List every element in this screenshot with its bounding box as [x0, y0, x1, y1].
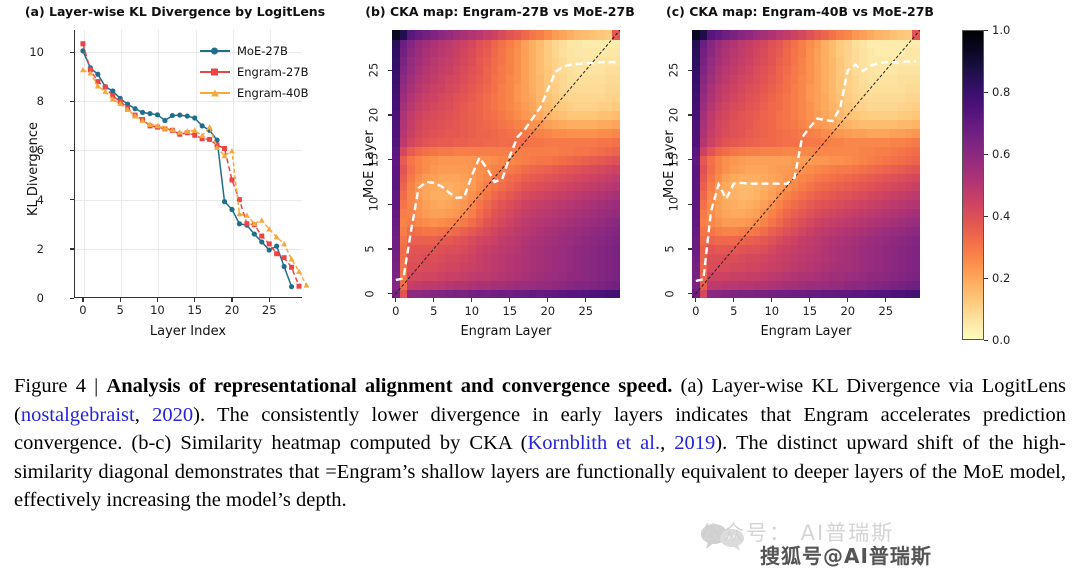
- heatmap-cell: [612, 110, 620, 120]
- legend-swatch: [200, 92, 230, 94]
- panel-a-x-tick: [231, 298, 232, 302]
- panel-c-y-axis-title: MoE Layer: [662, 130, 677, 198]
- heatmap-y-tick-label: 20: [666, 108, 680, 123]
- heatmap-x-tick: [809, 298, 810, 302]
- colorbar: [962, 30, 984, 340]
- citation-separator-2: ,: [660, 432, 674, 454]
- panel-a-y-tick: [70, 248, 74, 249]
- colorbar-tick: [984, 154, 988, 155]
- heatmap-x-tick-label: 25: [578, 304, 593, 318]
- heatmap-cell: [912, 39, 920, 49]
- heatmap-x-tick-label: 0: [692, 304, 699, 318]
- heatmap-cell: [912, 48, 920, 58]
- legend-swatch: [200, 71, 230, 73]
- colorbar-tick: [984, 278, 988, 279]
- heatmap-cell: [612, 262, 620, 272]
- heatmap-cell: [912, 280, 920, 290]
- panel-b-title: (b) CKA map: Engram-27B vs MoE-27B: [350, 4, 650, 19]
- panel-a-y-tick: [70, 199, 74, 200]
- heatmap-cell: [612, 253, 620, 263]
- citation-year-2020[interactable]: 2020: [152, 404, 193, 426]
- panel-a-line-chart: (a) Layer-wise KL Divergence by LogitLen…: [0, 0, 350, 360]
- heatmap-cell: [912, 119, 920, 129]
- heatmap-cell: [612, 271, 620, 281]
- heatmap-x-tick-label: 5: [730, 304, 737, 318]
- caption-figure-label: Figure 4 |: [14, 375, 106, 397]
- heatmap-cell: [912, 218, 920, 228]
- heatmap-y-tick-label: 25: [666, 63, 680, 78]
- gridline-horizontal: [75, 150, 302, 151]
- panel-a-y-tick: [70, 150, 74, 151]
- panel-a-x-tick: [269, 298, 270, 302]
- legend-item-engram-27b[interactable]: Engram-27B: [200, 61, 309, 82]
- panel-b-heatmap: (b) CKA map: Engram-27B vs MoE-27B 05101…: [350, 0, 650, 360]
- panel-c-heatmap: (c) CKA map: Engram-40B vs MoE-27B 05101…: [650, 0, 950, 360]
- heatmap-cell: [912, 57, 920, 67]
- panel-b-heatmap-canvas: [392, 30, 620, 298]
- legend-marker-icon: [211, 68, 218, 75]
- heatmap-cell: [912, 93, 920, 103]
- citation-link-nostalgebraist[interactable]: nostalgebraist: [21, 404, 135, 426]
- heatmap-cell: [912, 191, 920, 201]
- heatmap-cell: [912, 101, 920, 111]
- legend-marker-icon: [211, 89, 219, 96]
- heatmap-cell: [912, 262, 920, 272]
- panel-a-y-tick: [70, 52, 74, 53]
- heatmap-cell: [612, 146, 620, 156]
- gridline-vertical: [158, 30, 159, 297]
- heatmap-y-tick-label: 0: [363, 290, 377, 297]
- heatmap-x-tick: [733, 298, 734, 302]
- panel-a-y-axis-title: KL Divergence: [26, 122, 41, 216]
- colorbar-tick: [984, 30, 988, 31]
- citation-separator-1: ,: [135, 404, 152, 426]
- heatmap-y-tick-label: 5: [663, 245, 677, 252]
- heatmap-y-tick-label: 25: [366, 63, 380, 78]
- panel-a-x-tick-label: 20: [225, 303, 240, 317]
- heatmap-cell: [612, 209, 620, 219]
- colorbar-tick: [984, 340, 988, 341]
- caption-bold-lead: Analysis of representational alignment a…: [106, 375, 672, 397]
- heatmap-cell: [612, 164, 620, 174]
- heatmap-cell: [912, 235, 920, 245]
- panel-c-heatmap-canvas: [692, 30, 920, 298]
- panel-c-title: (c) CKA map: Engram-40B vs MoE-27B: [650, 4, 950, 19]
- panel-b-x-axis-title: Engram Layer: [392, 324, 620, 339]
- heatmap-x-tick: [395, 298, 396, 302]
- panel-a-y-tick: [70, 298, 74, 299]
- heatmap-cell: [912, 271, 920, 281]
- heatmap-cell: [612, 57, 620, 67]
- panel-a-y-tick-label: 0: [4, 291, 44, 305]
- heatmap-cell: [912, 182, 920, 192]
- heatmap-cell: [912, 137, 920, 147]
- heatmap-cell: [612, 30, 620, 40]
- figure-caption: Figure 4 | Analysis of representational …: [14, 372, 1066, 515]
- heatmap-x-tick: [847, 298, 848, 302]
- heatmap-cell: [912, 209, 920, 219]
- heatmap-cell: [612, 218, 620, 228]
- heatmap-y-tick-label: 0: [663, 290, 677, 297]
- legend-marker-icon: [211, 47, 218, 54]
- heatmap-y-tick-label: 5: [363, 245, 377, 252]
- panel-a-y-tick-label: 10: [4, 45, 44, 59]
- watermark-wechat-text: 公众号： AI普瑞斯: [700, 517, 894, 547]
- heatmap-y-tick: [388, 204, 392, 205]
- heatmap-x-tick-label: 10: [464, 304, 479, 318]
- panel-a-x-tick: [120, 298, 121, 302]
- heatmap-y-tick-label: 10: [366, 197, 380, 212]
- heatmap-cell: [612, 39, 620, 49]
- heatmap-x-tick-label: 0: [392, 304, 399, 318]
- heatmap-cell: [612, 66, 620, 76]
- heatmap-cell: [912, 66, 920, 76]
- gridline-vertical: [84, 30, 85, 297]
- heatmap-y-tick: [388, 248, 392, 249]
- heatmap-y-tick: [388, 70, 392, 71]
- heatmap-x-tick: [695, 298, 696, 302]
- heatmap-cell: [612, 137, 620, 147]
- heatmap-x-tick-label: 20: [540, 304, 555, 318]
- heatmap-x-tick-label: 15: [502, 304, 517, 318]
- heatmap-y-tick: [688, 204, 692, 205]
- heatmap-y-tick: [688, 293, 692, 294]
- heatmap-cell: [612, 128, 620, 138]
- heatmap-cell: [912, 75, 920, 85]
- legend-label: Engram-27B: [237, 65, 309, 79]
- panel-c-x-axis-title: Engram Layer: [692, 324, 920, 339]
- gridline-horizontal: [75, 200, 302, 201]
- heatmap-cell: [912, 244, 920, 254]
- heatmap-cell: [612, 48, 620, 58]
- heatmap-cell: [612, 280, 620, 290]
- heatmap-cell: [612, 173, 620, 183]
- legend-item-moe-27b[interactable]: MoE-27B: [200, 40, 309, 61]
- heatmap-y-tick-label: 10: [666, 197, 680, 212]
- heatmap-cell: [612, 191, 620, 201]
- gridline-vertical: [121, 30, 122, 297]
- heatmap-cell: [912, 84, 920, 94]
- heatmap-x-tick: [547, 298, 548, 302]
- colorbar-tick: [984, 216, 988, 217]
- panel-a-x-tick-label: 5: [117, 303, 124, 317]
- heatmap-x-tick-label: 25: [878, 304, 893, 318]
- heatmap-cell: [612, 119, 620, 129]
- colorbar-tick-label: 0.2: [992, 271, 1010, 285]
- colorbar-tick: [984, 92, 988, 93]
- colorbar-tick-label: 0.8: [992, 85, 1010, 99]
- citation-year-2019[interactable]: 2019: [674, 432, 715, 454]
- heatmap-cell: [912, 164, 920, 174]
- colorbar-tick-label: 0.6: [992, 147, 1010, 161]
- heatmap-y-tick: [688, 114, 692, 115]
- heatmap-cell: [612, 84, 620, 94]
- heatmap-cell: [612, 289, 620, 298]
- heatmap-x-tick-label: 5: [430, 304, 437, 318]
- heatmap-y-tick: [388, 293, 392, 294]
- panel-b-y-axis-title: MoE Layer: [362, 130, 377, 198]
- heatmap-x-tick-label: 20: [840, 304, 855, 318]
- heatmap-y-tick: [388, 114, 392, 115]
- heatmap-cell: [612, 235, 620, 245]
- heatmap-cell: [612, 101, 620, 111]
- heatmap-y-tick: [388, 159, 392, 160]
- heatmap-x-tick: [771, 298, 772, 302]
- heatmap-y-tick: [688, 70, 692, 71]
- heatmap-cell: [612, 227, 620, 237]
- heatmap-y-tick: [688, 248, 692, 249]
- panel-a-legend[interactable]: MoE-27BEngram-27BEngram-40B: [200, 40, 309, 103]
- panel-a-x-tick-label: 10: [150, 303, 165, 317]
- gridline-horizontal: [75, 249, 302, 250]
- plot-grid: (a) Layer-wise KL Divergence by LogitLen…: [0, 0, 1080, 360]
- panel-a-y-tick-label: 8: [4, 94, 44, 108]
- heatmap-cell: [912, 128, 920, 138]
- series-marker: [303, 282, 309, 287]
- colorbar-tick-label: 1.0: [992, 23, 1010, 37]
- heatmap-cell: [612, 155, 620, 165]
- panel-a-x-tick-label: 0: [79, 303, 86, 317]
- heatmap-cell: [612, 182, 620, 192]
- legend-label: MoE-27B: [237, 44, 288, 58]
- panel-a-x-tick: [157, 298, 158, 302]
- panel-a-y-tick-label: 2: [4, 242, 44, 256]
- heatmap-cell: [912, 155, 920, 165]
- panel-a-x-tick: [82, 298, 83, 302]
- citation-link-kornblith[interactable]: Kornblith et al.: [527, 432, 660, 454]
- heatmap-cell: [912, 146, 920, 156]
- legend-item-engram-40b[interactable]: Engram-40B: [200, 82, 309, 103]
- heatmap-cell: [912, 253, 920, 263]
- heatmap-cell: [912, 289, 920, 298]
- heatmap-cell: [612, 93, 620, 103]
- heatmap-x-tick-label: 15: [802, 304, 817, 318]
- heatmap-cell: [612, 244, 620, 254]
- gridline-vertical: [196, 30, 197, 297]
- colorbar-tick-label: 0.0: [992, 333, 1010, 347]
- heatmap-x-tick: [471, 298, 472, 302]
- heatmap-cell: [912, 30, 920, 40]
- heatmap-x-tick-label: 10: [764, 304, 779, 318]
- heatmap-cell: [912, 200, 920, 210]
- wechat-bubble-icon: [700, 522, 750, 552]
- panel-a-x-tick: [194, 298, 195, 302]
- panel-a-title: (a) Layer-wise KL Divergence by LogitLen…: [0, 4, 350, 19]
- heatmap-y-tick: [688, 159, 692, 160]
- heatmap-cell: [612, 75, 620, 85]
- panel-a-y-tick: [70, 101, 74, 102]
- colorbar-tick-label: 0.4: [992, 209, 1010, 223]
- heatmap-x-tick: [433, 298, 434, 302]
- heatmap-x-tick: [509, 298, 510, 302]
- heatmap-x-tick: [585, 298, 586, 302]
- panel-a-x-tick-label: 25: [262, 303, 277, 317]
- heatmap-y-tick-label: 20: [366, 108, 380, 123]
- heatmap-cell: [912, 227, 920, 237]
- watermark-sohu-text: 搜狐号@AI普瑞斯: [760, 540, 932, 569]
- panel-a-x-axis-title: Layer Index: [74, 324, 302, 339]
- heatmap-cell: [912, 173, 920, 183]
- figure-4: (a) Layer-wise KL Divergence by LogitLen…: [0, 0, 1080, 575]
- heatmap-cell: [912, 110, 920, 120]
- heatmap-x-tick: [885, 298, 886, 302]
- legend-swatch: [200, 50, 230, 52]
- legend-label: Engram-40B: [237, 86, 309, 100]
- panel-a-x-tick-label: 15: [187, 303, 202, 317]
- heatmap-cell: [612, 200, 620, 210]
